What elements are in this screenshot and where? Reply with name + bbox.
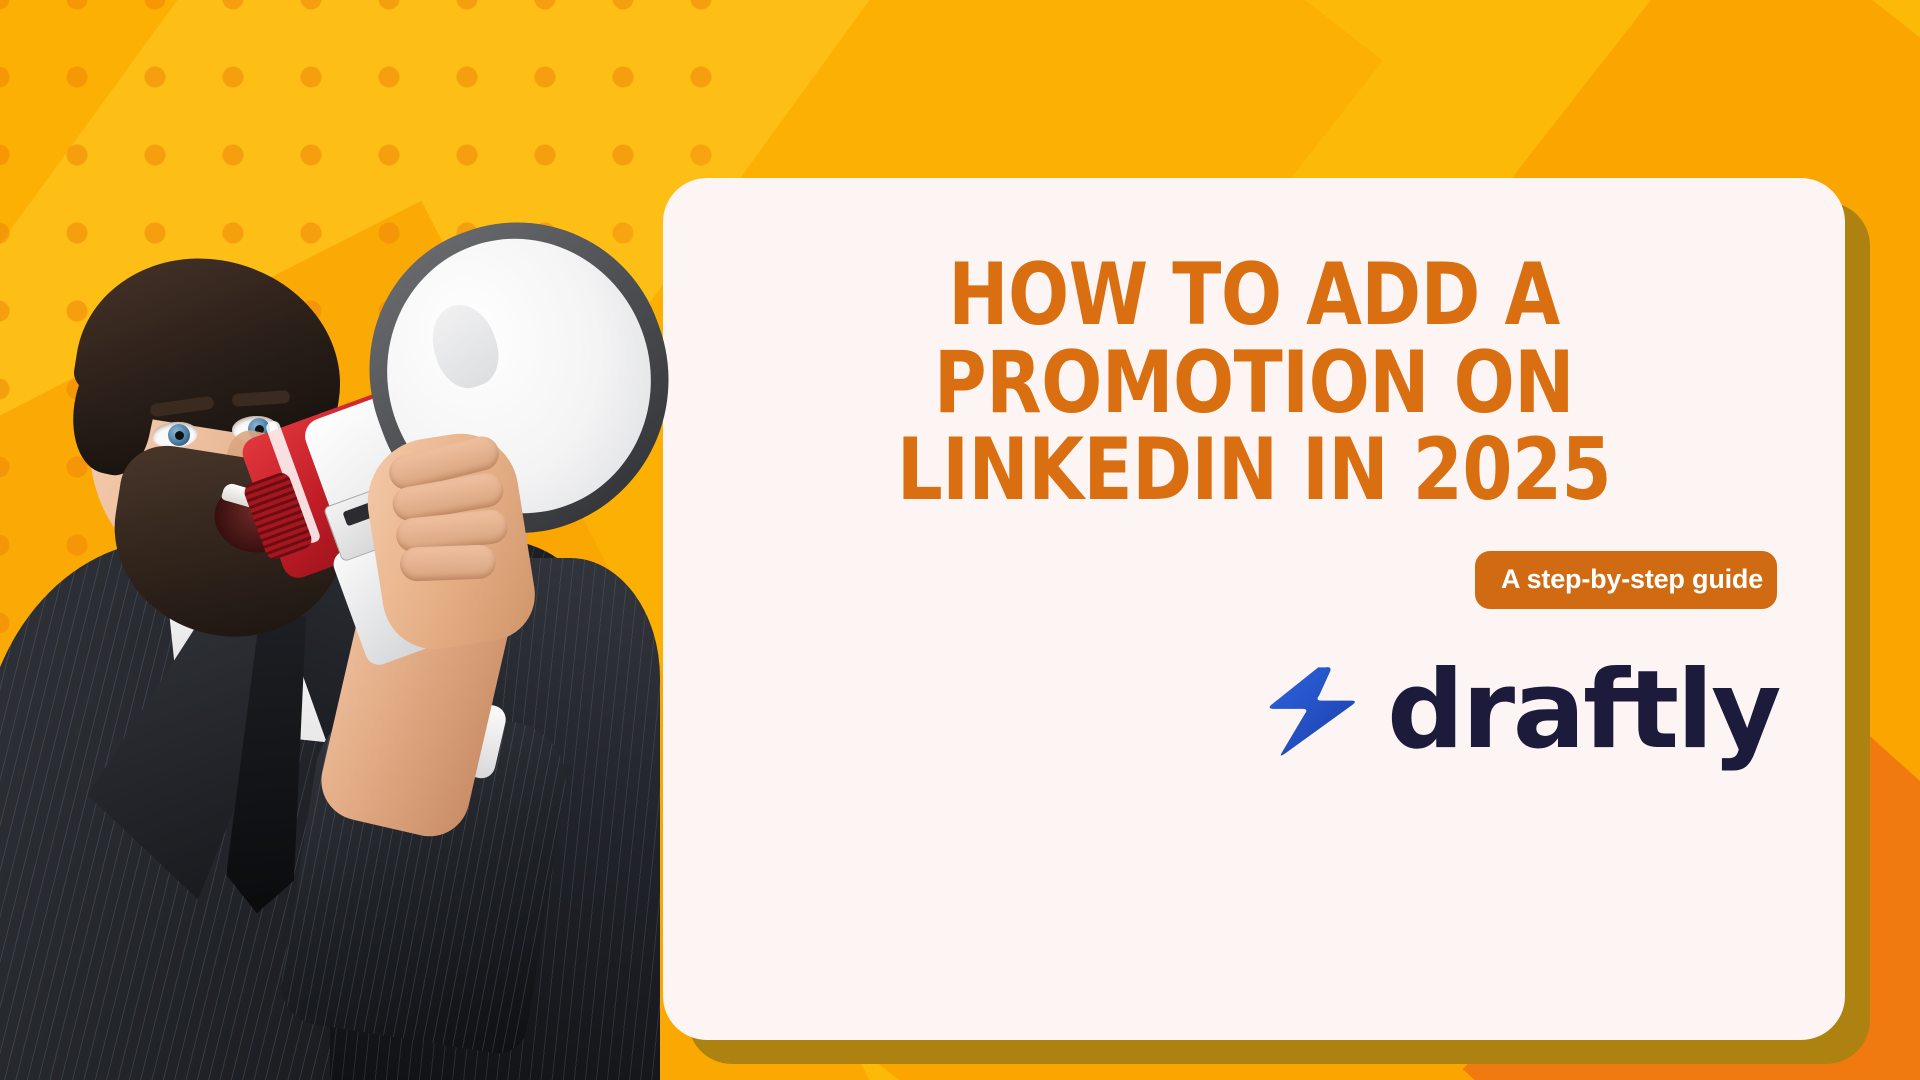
finger-pinky [399,544,496,581]
headline-line-1: HOW TO ADD A [762,252,1746,340]
photo-person-with-megaphone [0,240,720,1080]
megaphone [0,240,720,880]
subtitle-row: A step-by-step guide [725,551,1783,609]
status-badge: A step-by-step guide [1475,551,1777,609]
headline-line-2: PROMOTION ON [762,340,1746,428]
card-content: HOW TO ADD A PROMOTION ON LINKEDIN IN 20… [663,178,1845,1040]
title-card: HOW TO ADD A PROMOTION ON LINKEDIN IN 20… [663,178,1845,1040]
lightning-bolt-icon [1261,659,1365,763]
subtitle-badge-label: A step-by-step guide [1501,564,1763,594]
page-title: HOW TO ADD A PROMOTION ON LINKEDIN IN 20… [762,252,1746,515]
headline-line-3: LINKEDIN IN 2025 [762,427,1746,515]
brand-wordmark: draftly [1387,657,1779,765]
brand-logo: draftly [725,657,1783,765]
